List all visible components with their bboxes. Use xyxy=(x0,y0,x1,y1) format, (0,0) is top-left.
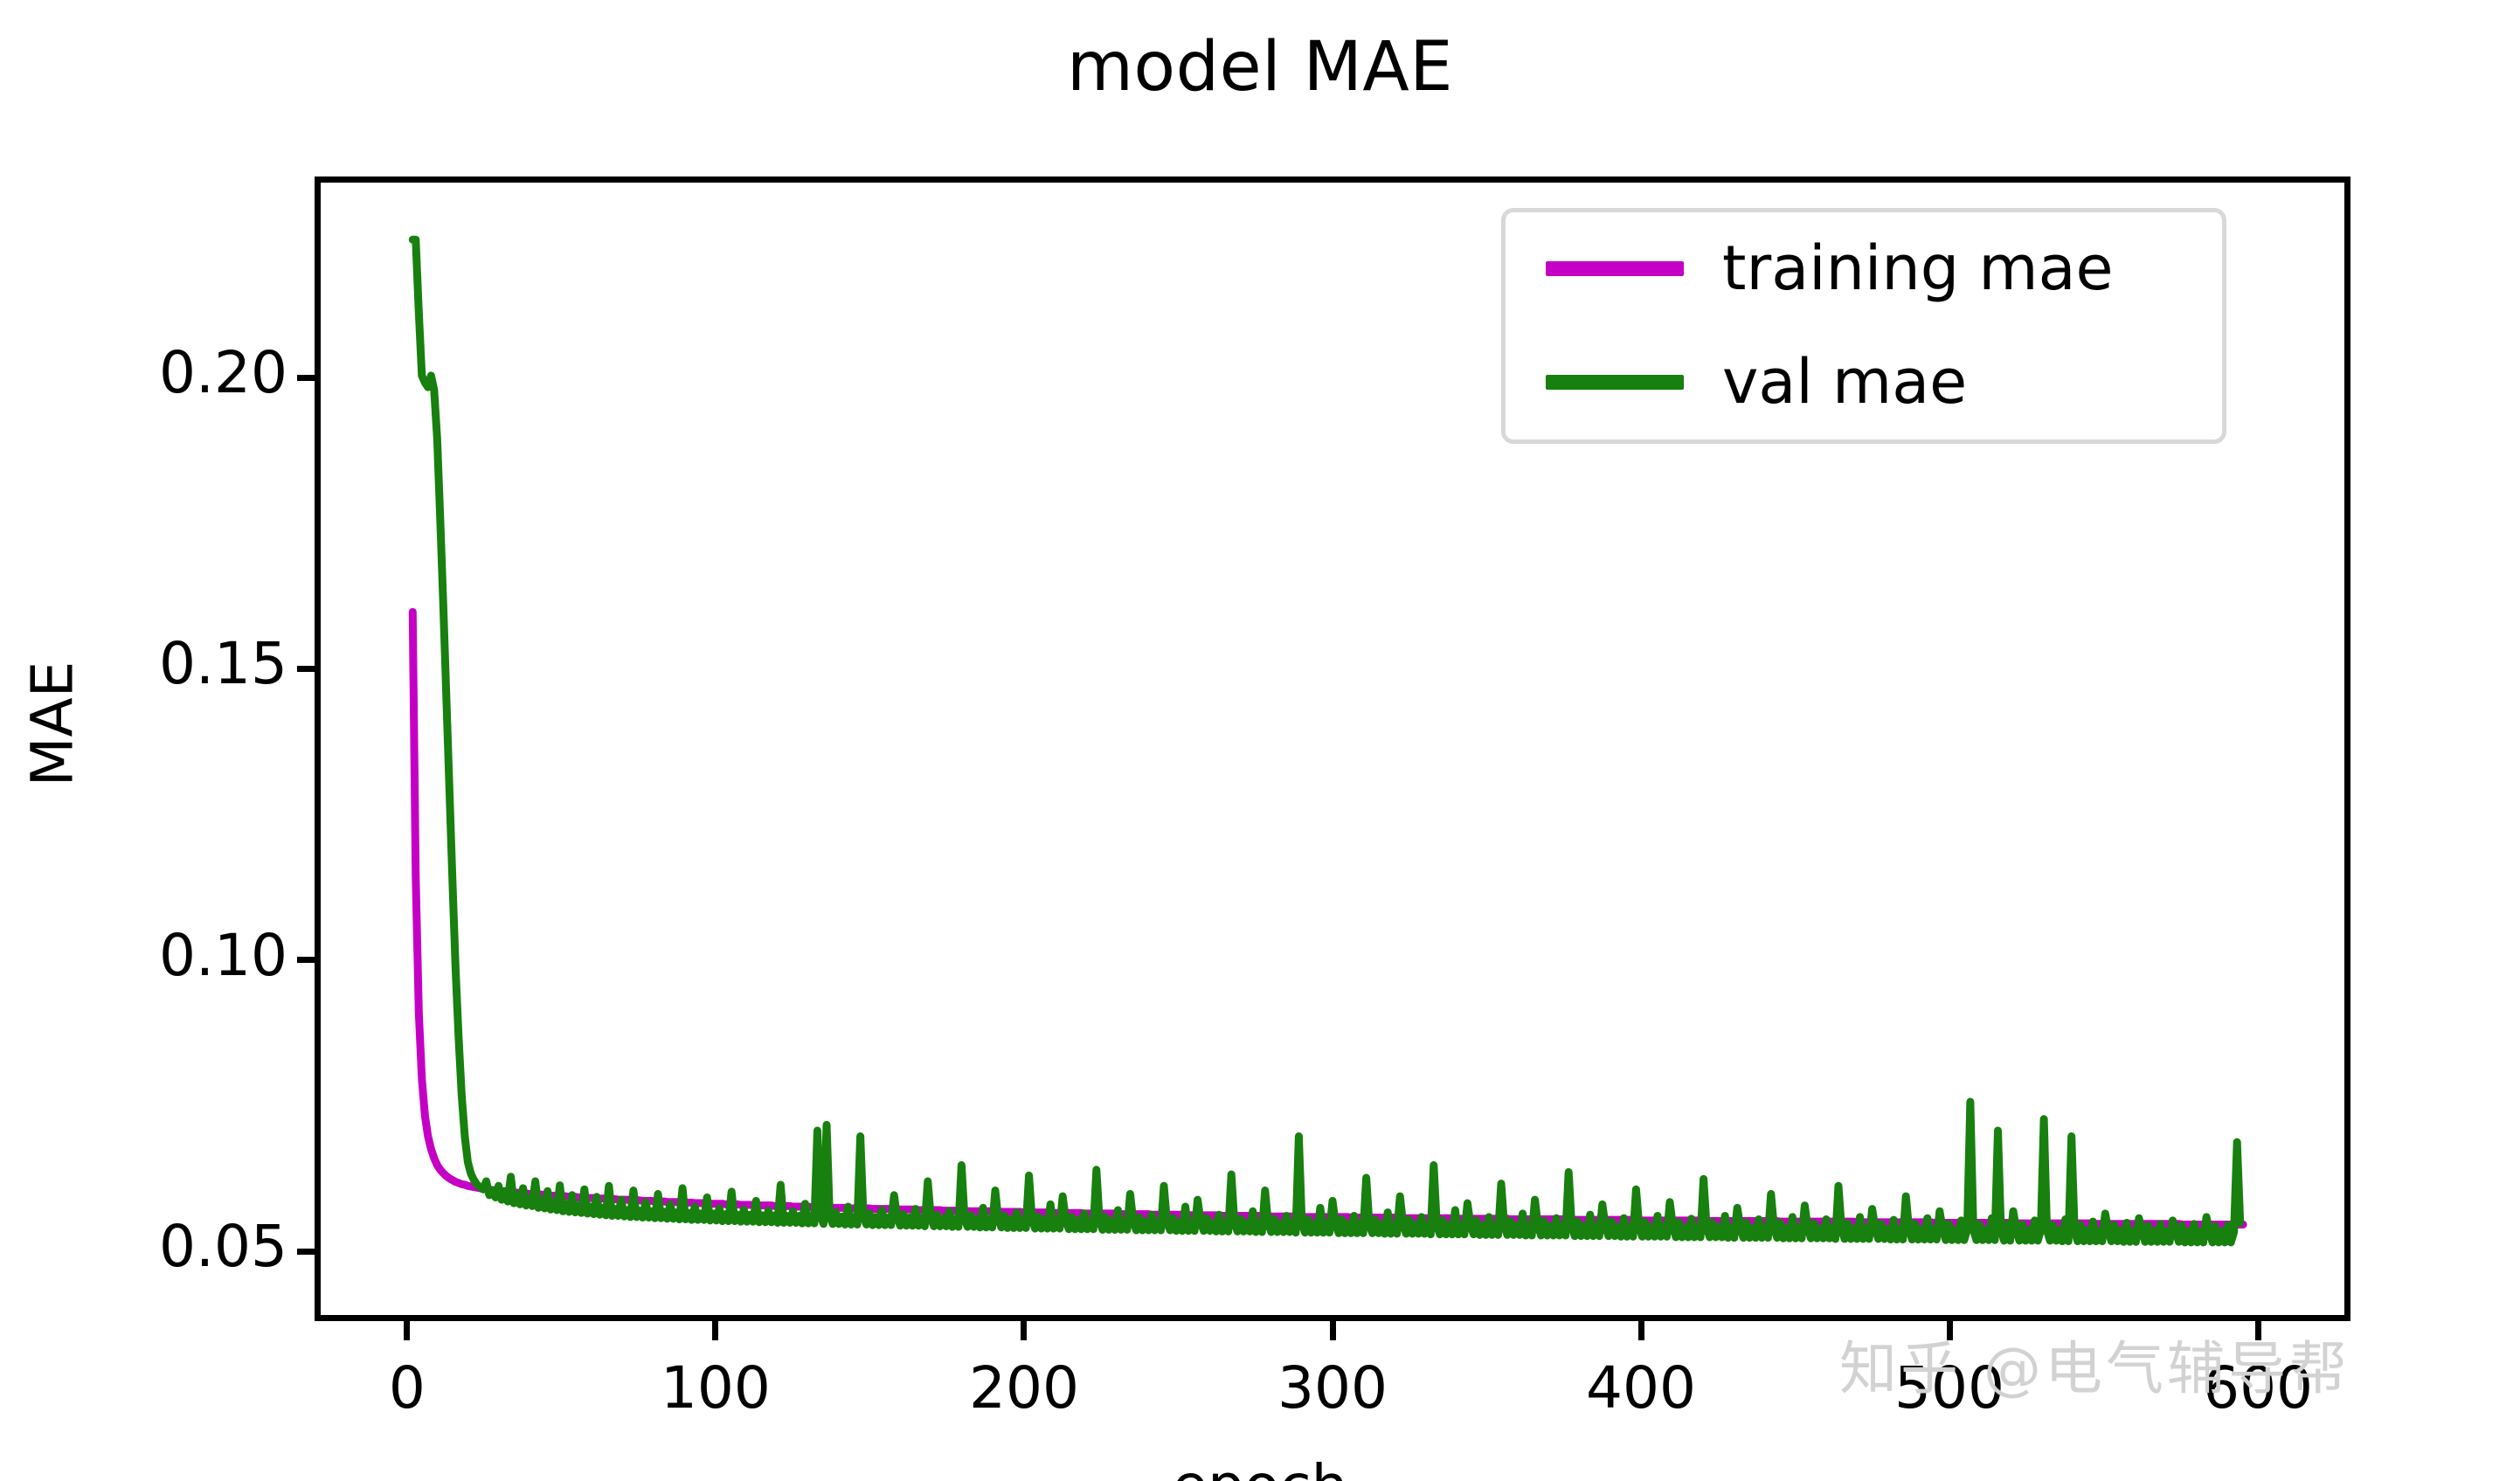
x-tick-mark xyxy=(1330,1321,1336,1340)
y-tick-label: 0.20 xyxy=(159,344,287,402)
x-tick-mark xyxy=(712,1321,718,1340)
x-tick-label: 300 xyxy=(1219,1360,1446,1417)
legend-label-val-mae: val mae xyxy=(1722,351,1967,412)
y-tick-label: 0.05 xyxy=(159,1218,287,1276)
x-tick-mark xyxy=(404,1321,410,1340)
legend-item-training-mae[interactable]: training mae xyxy=(1506,225,2222,312)
y-axis-label: MAE xyxy=(19,628,87,820)
y-tick-mark xyxy=(297,957,315,963)
x-tick-label: 400 xyxy=(1527,1360,1755,1417)
x-tick-label: 600 xyxy=(2144,1360,2371,1417)
chart-legend: training mae val mae xyxy=(1501,208,2226,444)
legend-item-val-mae[interactable]: val mae xyxy=(1506,338,2222,426)
page-title: model MAE xyxy=(0,33,2520,101)
x-tick-label: 0 xyxy=(294,1360,521,1417)
y-tick-label: 0.15 xyxy=(159,635,287,693)
y-tick-mark xyxy=(297,666,315,672)
x-tick-mark xyxy=(1021,1321,1027,1340)
x-tick-label: 200 xyxy=(910,1360,1138,1417)
x-tick-label: 100 xyxy=(602,1360,829,1417)
legend-swatch-val-mae xyxy=(1546,375,1684,390)
y-tick-mark xyxy=(297,375,315,381)
y-tick-mark xyxy=(297,1249,315,1255)
x-axis-label: epoch xyxy=(0,1452,2520,1481)
legend-label-training-mae: training mae xyxy=(1722,238,2114,299)
y-tick-label: 0.10 xyxy=(159,927,287,985)
x-tick-mark xyxy=(1947,1321,1953,1340)
x-tick-mark xyxy=(1638,1321,1644,1340)
legend-swatch-training-mae xyxy=(1546,261,1684,276)
x-tick-mark xyxy=(2255,1321,2261,1340)
chart-page: model MAE MAE 0.050.100.150.20 010020030… xyxy=(0,0,2520,1481)
x-tick-label: 500 xyxy=(1836,1360,2063,1417)
